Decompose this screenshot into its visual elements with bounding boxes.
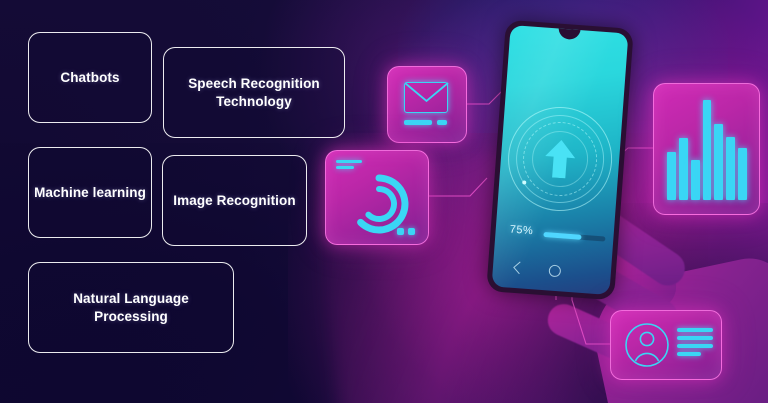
donut-chart-icon (348, 173, 410, 235)
donut-header-line-1 (336, 160, 362, 163)
upload-hud (504, 103, 615, 214)
label-box-chatbots[interactable]: Chatbots (28, 32, 152, 123)
bar-chart-bar (703, 100, 712, 200)
email-line-1 (404, 120, 432, 125)
envelope-flap-icon (404, 82, 450, 115)
bar-chart-bar (691, 160, 700, 200)
user-avatar-icon (624, 322, 670, 368)
label-box-image-recognition[interactable]: Image Recognition (162, 155, 307, 246)
label-box-machine-learning[interactable]: Machine learning (28, 147, 152, 238)
progress-bar-track (543, 232, 605, 242)
label-text-speech-recognition-technology: Speech Recognition Technology (172, 75, 336, 111)
donut-legend-square-1 (397, 228, 404, 235)
home-circle-icon[interactable] (548, 264, 561, 277)
profile-line-3 (677, 344, 713, 348)
profile-card[interactable] (610, 310, 722, 380)
label-text-machine-learning: Machine learning (34, 184, 146, 202)
donut-chart-card[interactable] (325, 150, 429, 245)
profile-line-2 (677, 336, 713, 340)
label-box-natural-language-processing[interactable]: Natural Language Processing (28, 262, 234, 353)
email-line-2 (437, 120, 447, 125)
donut-header-line-2 (336, 166, 354, 169)
bar-chart-bar (726, 137, 735, 200)
back-chevron-icon[interactable] (513, 261, 526, 274)
label-box-speech-recognition-technology[interactable]: Speech Recognition Technology (163, 47, 345, 138)
smartphone: 75% (486, 20, 634, 301)
bar-chart-bar (714, 124, 723, 200)
label-text-chatbots: Chatbots (60, 69, 119, 87)
bar-chart-bar (667, 152, 676, 200)
progress-percent-label: 75% (509, 224, 533, 238)
profile-line-1 (677, 328, 713, 332)
bar-chart-icon (667, 100, 747, 200)
bar-chart-card[interactable] (653, 83, 760, 215)
bar-chart-bar (738, 148, 747, 200)
phone-screen[interactable]: 75% (492, 25, 629, 295)
profile-line-4 (677, 352, 701, 356)
label-text-natural-language-processing: Natural Language Processing (37, 290, 225, 326)
email-card[interactable] (387, 66, 467, 143)
illustration-canvas: 75% (0, 0, 768, 403)
progress-bar-fill (543, 232, 582, 240)
bar-chart-bar (679, 138, 688, 200)
label-text-image-recognition: Image Recognition (173, 192, 295, 210)
donut-legend-square-2 (408, 228, 415, 235)
